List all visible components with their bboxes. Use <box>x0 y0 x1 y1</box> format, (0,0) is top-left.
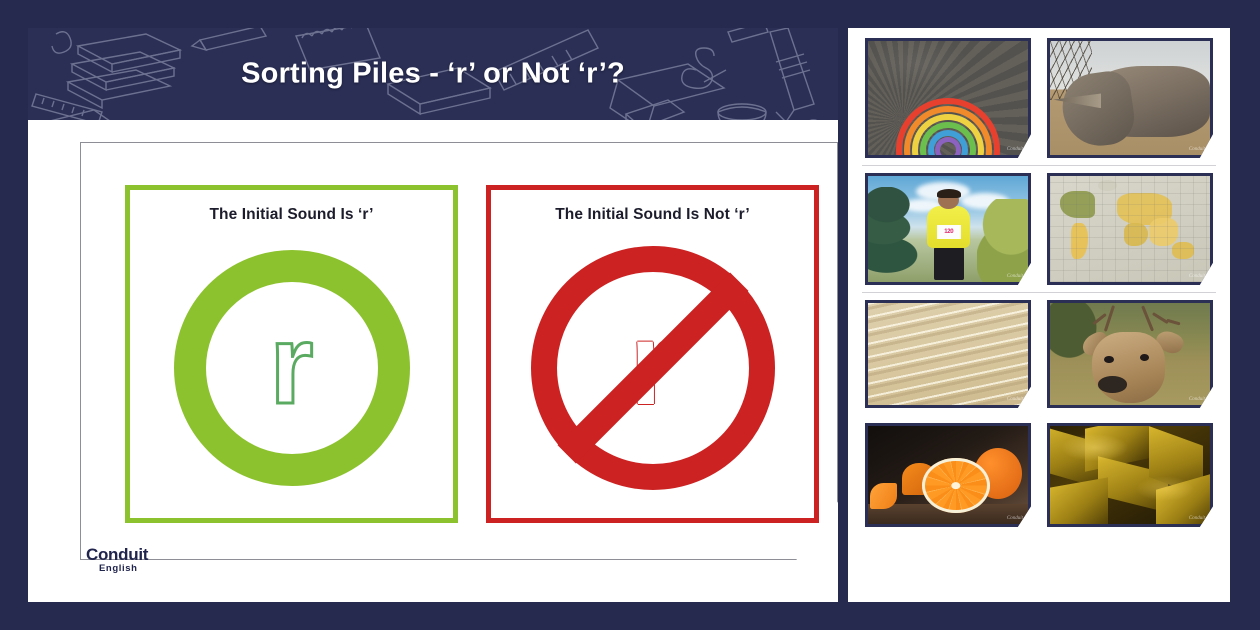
pile-symbol-yes: r <box>130 218 453 518</box>
presentation-slide: Sorting Piles - ‘r’ or Not ‘r’? The Init… <box>28 28 838 602</box>
photo-watermark: Conduit <box>1189 516 1205 521</box>
sand-ripples-photo-card[interactable]: Conduit <box>865 300 1031 408</box>
green-ring-icon: r <box>174 250 410 486</box>
gold-bars-photo-card[interactable]: Conduit <box>1047 423 1213 527</box>
picture-row-1: Conduit Conduit <box>860 38 1218 158</box>
map-grid-lines <box>1050 176 1210 282</box>
row-separator-2 <box>862 292 1216 293</box>
letter-r-outline-glyph: r <box>270 309 314 421</box>
photo-watermark: Conduit <box>1189 147 1205 152</box>
sorting-pile-initial-sound-is-not-r[interactable]: The Initial Sound Is Not ‘r’ r <box>486 185 819 523</box>
runner-race-bib: 120 <box>937 225 961 239</box>
row-separator-1 <box>862 165 1216 166</box>
gold-bars-photo: Conduit <box>1050 426 1210 524</box>
sorting-piles-container: The Initial Sound Is ‘r’ r The Initial S… <box>125 185 819 523</box>
slide-header: Sorting Piles - ‘r’ or Not ‘r’? <box>28 28 838 120</box>
runner-hair <box>937 189 961 199</box>
runner-trees <box>868 187 919 282</box>
picture-row-4: Conduit Conduit <box>860 423 1218 527</box>
deer-muzzle <box>1098 376 1127 392</box>
deer-photo: Conduit <box>1050 303 1210 405</box>
deer-photo-card[interactable]: Conduit <box>1047 300 1213 408</box>
orange-half-slice <box>922 458 989 513</box>
rainbow-chalk-photo-card[interactable]: Conduit <box>865 38 1031 158</box>
logo-primary-text: Conduit <box>86 546 148 564</box>
world-map-photo-card[interactable]: Conduit <box>1047 173 1213 285</box>
world-map-photo: Conduit <box>1050 176 1210 282</box>
orange-fruit-photo: Conduit <box>868 426 1028 524</box>
photo-watermark: Conduit <box>1189 274 1205 279</box>
orange-core <box>951 482 960 490</box>
gold-highlight <box>1050 426 1210 524</box>
photo-watermark: Conduit <box>1007 397 1023 402</box>
logo-secondary-text: English <box>86 564 148 574</box>
runner-photo: 120 Conduit <box>868 176 1028 282</box>
rainbow-chalk-photo: Conduit <box>868 41 1028 155</box>
rhino-photo: Conduit <box>1050 41 1210 155</box>
photo-watermark: Conduit <box>1007 516 1023 521</box>
runner-bushes <box>977 199 1028 282</box>
runner-photo-card[interactable]: 120 Conduit <box>865 173 1031 285</box>
picture-row-2: 120 Conduit Conduit <box>860 173 1218 285</box>
runner-legs <box>934 244 964 280</box>
sand-ripple-texture <box>868 303 1028 405</box>
deer-head-shape <box>1092 332 1166 403</box>
sand-ripples-photo: Conduit <box>868 303 1028 405</box>
photo-watermark: Conduit <box>1189 397 1205 402</box>
photo-watermark: Conduit <box>1007 274 1023 279</box>
rhino-photo-card[interactable]: Conduit <box>1047 38 1213 158</box>
sorting-pile-initial-sound-is-r[interactable]: The Initial Sound Is ‘r’ r <box>125 185 458 523</box>
page-title: Sorting Piles - ‘r’ or Not ‘r’? <box>28 58 838 91</box>
pile-symbol-no: r <box>491 218 814 518</box>
picture-cards-panel: Conduit Conduit <box>848 28 1230 602</box>
sorting-activity-card: The Initial Sound Is ‘r’ r The Initial S… <box>80 142 838 560</box>
photo-watermark: Conduit <box>1007 147 1023 152</box>
picture-row-3: Conduit Conduit <box>860 300 1218 408</box>
conduit-english-logo: Conduit English <box>86 546 148 574</box>
prohibition-sign-icon: r <box>531 246 775 490</box>
orange-wedge <box>870 483 897 509</box>
orange-fruit-photo-card[interactable]: Conduit <box>865 423 1031 527</box>
